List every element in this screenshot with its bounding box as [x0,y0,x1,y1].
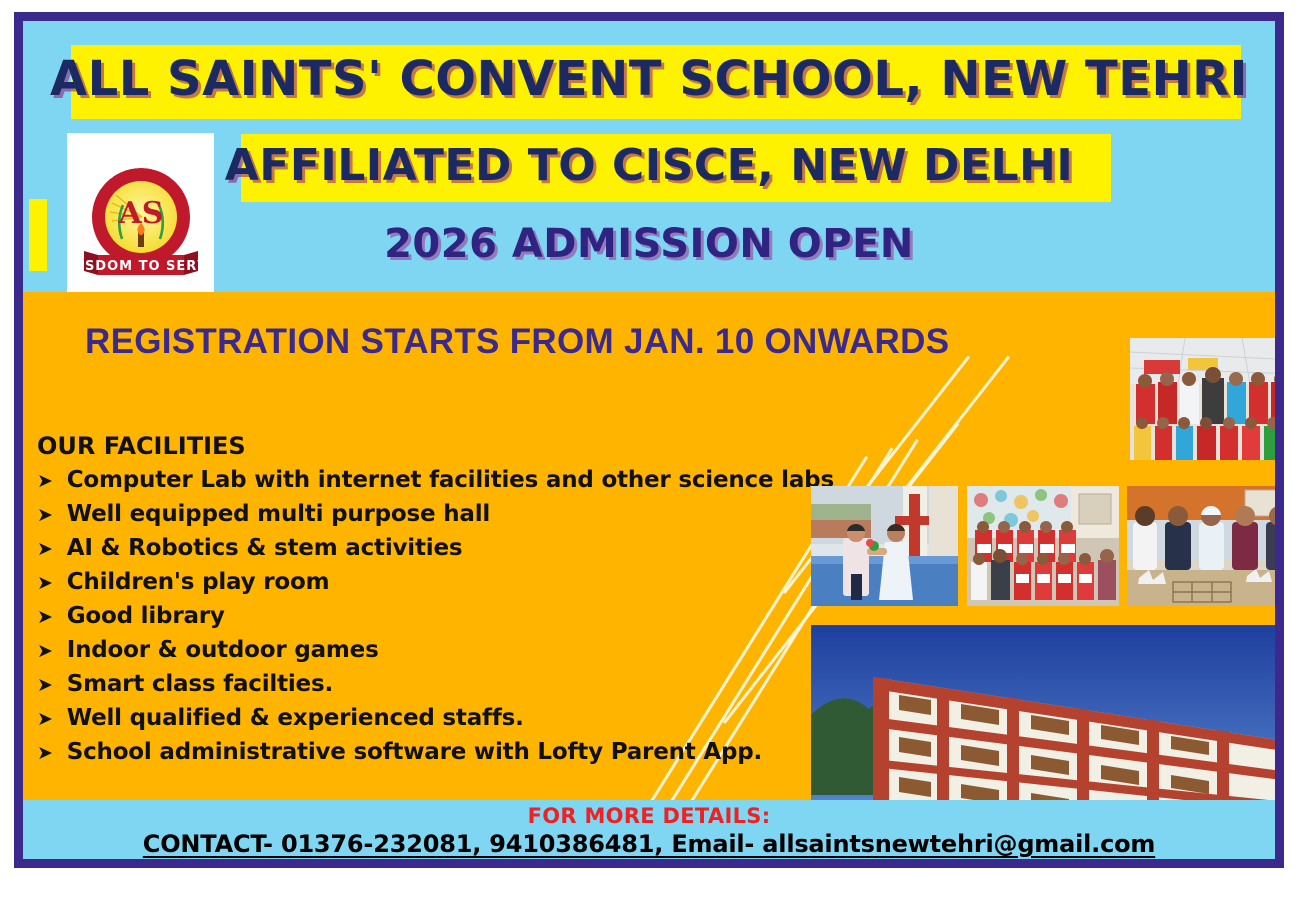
poster-footer: FOR MORE DETAILS: CONTACT- 01376-232081,… [23,800,1275,859]
arrow-bullet-icon: ➤ [37,574,53,593]
facility-item: ➤Smart class facilties. [37,671,834,705]
poster-frame: ALL SAINTS' CONVENT SCHOOL, NEW TEHRI AF… [14,12,1284,868]
facility-label: Children's play room [67,569,330,595]
facility-label: Indoor & outdoor games [67,637,379,663]
facility-item: ➤Indoor & outdoor games [37,637,834,671]
school-crest-icon: ALL SAINTS' CONVENT SCHOOL AS [76,143,206,283]
arrow-bullet-icon: ➤ [37,506,53,525]
arrow-bullet-icon: ➤ [37,472,53,491]
facility-item: ➤Good library [37,603,834,637]
arrow-bullet-icon: ➤ [37,710,53,729]
arrow-bullet-icon: ➤ [37,676,53,695]
facility-label: AI & Robotics & stem activities [67,535,463,561]
photo-staff-exhibition [1127,486,1275,606]
admission-poster: ALL SAINTS' CONVENT SCHOOL, NEW TEHRI AF… [0,0,1312,900]
facility-label: Well qualified & experienced staffs. [67,705,524,731]
facility-label: School administrative software with Loft… [67,739,762,765]
more-details-label: FOR MORE DETAILS: [23,804,1275,828]
photo-school-building [811,625,1275,800]
facility-item: ➤School administrative software with Lof… [37,739,834,773]
contact-line[interactable]: CONTACT- 01376-232081, 9410386481, Email… [23,830,1275,858]
facility-item: ➤Well qualified & experienced staffs. [37,705,834,739]
facilities-list: ➤Computer Lab with internet facilities a… [37,467,834,773]
svg-text:WISDOM TO SERVE: WISDOM TO SERVE [76,259,206,274]
photo-sports-team-group [1130,338,1275,460]
facility-label: Computer Lab with internet facilities an… [67,467,834,493]
facility-item: ➤AI & Robotics & stem activities [37,535,834,569]
photo-students-certificates [967,486,1119,606]
facility-label: Smart class facilties. [67,671,333,697]
registration-notice: REGISTRATION STARTS FROM JAN. 10 ONWARDS [85,322,949,362]
arrow-bullet-icon: ➤ [37,608,53,627]
school-name: ALL SAINTS' CONVENT SCHOOL, NEW TEHRI [23,51,1275,107]
arrow-bullet-icon: ➤ [37,642,53,661]
facility-label: Good library [67,603,225,629]
arrow-bullet-icon: ➤ [37,540,53,559]
facility-item: ➤Well equipped multi purpose hall [37,501,834,535]
arrow-bullet-icon: ➤ [37,744,53,763]
facility-item: ➤Children's play room [37,569,834,603]
school-logo: ALL SAINTS' CONVENT SCHOOL AS [67,133,214,292]
photo-award-handshake [811,486,958,606]
facilities-heading: OUR FACILITIES [37,432,246,460]
facility-label: Well equipped multi purpose hall [67,501,490,527]
facility-item: ➤Computer Lab with internet facilities a… [37,467,834,501]
poster-body: REGISTRATION STARTS FROM JAN. 10 ONWARDS… [23,292,1275,800]
poster-header: ALL SAINTS' CONVENT SCHOOL, NEW TEHRI AF… [23,21,1275,292]
